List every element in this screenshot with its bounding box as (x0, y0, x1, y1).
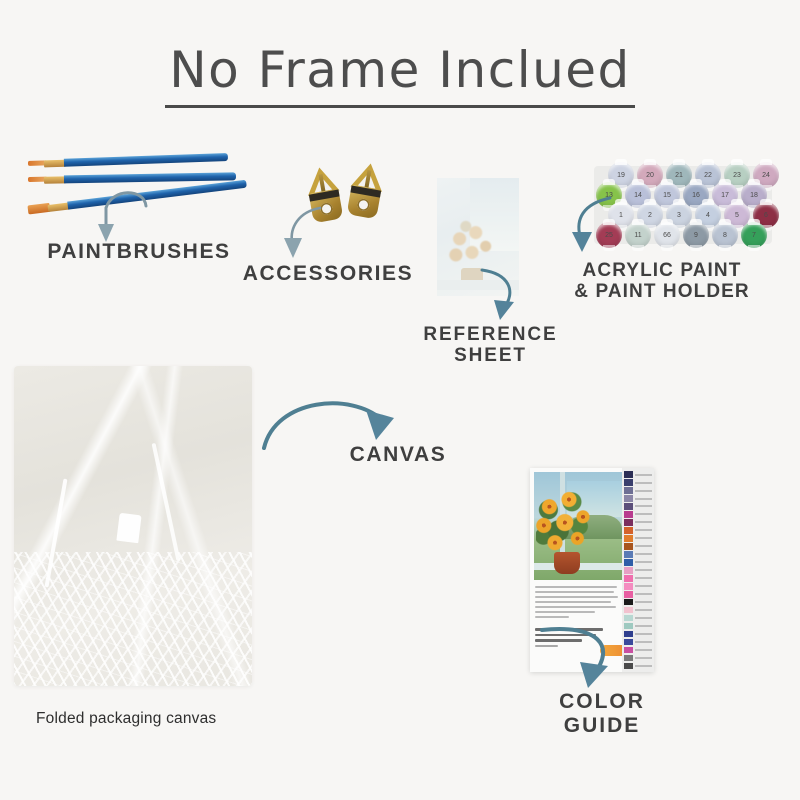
color-swatch-row (624, 503, 652, 510)
paint-pot-number: 11 (634, 232, 641, 239)
color-swatch-label (635, 601, 652, 603)
title-block: No Frame Inclued (0, 44, 800, 108)
color-swatch-label (635, 545, 652, 547)
paint-pot: 9 (683, 222, 709, 248)
color-swatch (624, 543, 633, 549)
paint-pot-number: 9 (694, 232, 698, 239)
paint-pot-number: 24 (762, 172, 770, 179)
reference-sheet-arrow (460, 268, 530, 330)
brush-ferrule (44, 176, 66, 183)
title-underline (165, 105, 635, 108)
color-swatch-label (635, 482, 652, 484)
color-swatch (624, 487, 633, 493)
color-swatch-row (624, 615, 652, 622)
color-swatch-row (624, 543, 652, 550)
paint-pot-number: 17 (721, 192, 729, 199)
accessories-arrow (280, 206, 344, 266)
paintbrush (28, 153, 228, 168)
color-swatch (624, 471, 633, 477)
page-title: No Frame Inclued (0, 44, 800, 97)
paintbrush (28, 172, 236, 184)
paint-pot: 7 (741, 222, 767, 248)
paint-pot-number: 66 (663, 232, 671, 239)
color-swatch (624, 559, 633, 565)
paint-pot-number: 7 (752, 232, 756, 239)
color-swatch-row (624, 567, 652, 574)
paint-pot: 66 (654, 222, 680, 248)
label-acrylic-paint: ACRYLIC PAINT & PAINT HOLDER (542, 260, 782, 303)
hanging-hook (340, 160, 391, 232)
label-color-guide: COLOR GUIDE (512, 690, 692, 737)
color-swatch (624, 479, 633, 485)
color-swatch (624, 495, 633, 501)
color-swatch-row (624, 535, 652, 542)
color-swatch-label (635, 537, 652, 539)
color-swatch (624, 575, 633, 581)
color-swatch-label (635, 577, 652, 579)
paint-pot-number: 8 (723, 232, 727, 239)
paint-pot-number: 22 (704, 172, 712, 179)
label-reference-sheet: REFERENCE SHEET (398, 324, 583, 367)
label-accessories: ACCESSORIES (228, 262, 428, 286)
label-paintbrushes: PAINTBRUSHES (14, 240, 264, 264)
color-swatch-row (624, 527, 652, 534)
paint-pot-number: 14 (634, 192, 642, 199)
paint-pot-number: 19 (617, 172, 625, 179)
color-swatch (624, 503, 633, 509)
color-swatch (624, 535, 633, 541)
color-guide-artwork (534, 472, 622, 580)
color-guide-body-text (535, 586, 621, 621)
color-swatch (624, 527, 633, 533)
color-swatch-label (635, 561, 652, 563)
paint-pot-number: 3 (677, 212, 681, 219)
color-swatch-label (635, 521, 652, 523)
brush-ferrule (44, 159, 66, 167)
folded-canvas-package (14, 366, 252, 686)
color-swatch (624, 583, 633, 589)
paint-pot-number: 23 (733, 172, 741, 179)
color-swatch-label (635, 498, 652, 500)
paintbrushes-arrow (96, 186, 166, 248)
artwork-vase (554, 552, 580, 574)
color-swatch (624, 551, 633, 557)
paint-pot-number: 15 (663, 192, 671, 199)
color-swatch-row (624, 471, 652, 478)
color-swatch (624, 567, 633, 573)
color-swatch-row (624, 487, 652, 494)
color-swatch-row (624, 551, 652, 558)
color-swatch (624, 511, 633, 517)
color-swatch-label (635, 569, 652, 571)
reference-bouquet (441, 214, 503, 276)
caption-folded-canvas: Folded packaging canvas (36, 710, 216, 728)
paint-pot-number: 5 (735, 212, 739, 219)
color-swatch (624, 607, 633, 613)
color-swatch-label (635, 593, 652, 595)
infographic-canvas: No Frame Inclued PAINTBRUSHES (0, 0, 800, 800)
paint-pot: 8 (712, 222, 738, 248)
package-tag (116, 513, 141, 543)
color-swatch (624, 599, 633, 605)
paint-pot-number: 6 (764, 212, 768, 219)
color-swatch-label (635, 553, 652, 555)
color-swatch (624, 519, 633, 525)
color-swatch (624, 615, 633, 621)
brush-handle (64, 153, 228, 167)
paint-pot-number: 20 (646, 172, 654, 179)
color-swatch-row (624, 511, 652, 518)
label-canvas: CANVAS (298, 443, 498, 467)
color-swatch-row (624, 591, 652, 598)
color-swatch-label (635, 529, 652, 531)
paint-pot-number: 18 (750, 192, 758, 199)
paint-pot-number: 2 (648, 212, 652, 219)
paint-pot-number: 4 (706, 212, 710, 219)
artwork-sunflowers (534, 488, 604, 560)
color-swatch-label (635, 617, 652, 619)
color-swatch-row (624, 495, 652, 502)
color-swatch (624, 591, 633, 597)
brush-handle (64, 172, 236, 183)
color-swatch-row (624, 583, 652, 590)
color-swatch-label (635, 474, 652, 476)
paint-pot-number: 21 (675, 172, 683, 179)
acrylic-paint-arrow (572, 194, 632, 262)
color-swatch-label (635, 505, 652, 507)
plastic-crinkle (14, 552, 252, 686)
color-swatch-label (635, 513, 652, 515)
color-swatch-row (624, 575, 652, 582)
color-swatch-row (624, 479, 652, 486)
color-swatch-label (635, 609, 652, 611)
color-swatch-row (624, 607, 652, 614)
color-swatch-label (635, 585, 652, 587)
paint-pot-number: 16 (692, 192, 700, 199)
color-swatch-label (635, 490, 652, 492)
color-swatch-row (624, 559, 652, 566)
color-swatch-row (624, 519, 652, 526)
color-swatch-row (624, 599, 652, 606)
